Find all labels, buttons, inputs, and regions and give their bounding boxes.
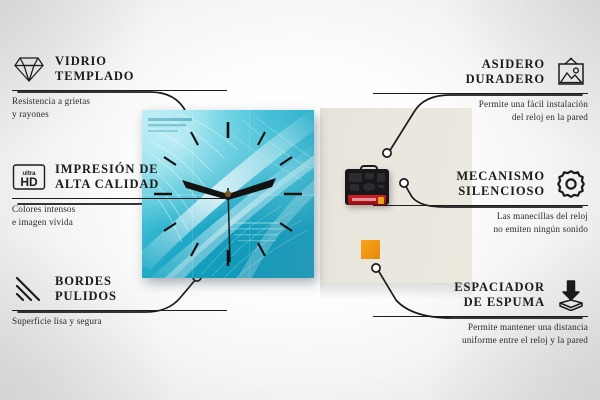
feature-divider	[373, 93, 588, 94]
feature-asidero-duradero: ASIDERO DURADERO Permite una fácil insta…	[373, 55, 588, 123]
feature-impresion-alta-calidad: ultra HD IMPRESIÓN DE ALTA CALIDAD Color…	[12, 160, 227, 228]
feature-description: Las manecillas del reloj no emiten ningú…	[373, 210, 588, 235]
feature-header: ultra HD IMPRESIÓN DE ALTA CALIDAD	[12, 160, 227, 194]
feature-espaciador-de-espuma: ESPACIADOR DE ESPUMA Permite mantener un…	[373, 278, 588, 346]
minute-hand	[228, 178, 276, 200]
feature-header: BORDES PULIDOS	[12, 272, 227, 306]
connector-dot-espaciador	[372, 264, 380, 272]
feature-header: VIDRIO TEMPLADO	[12, 52, 227, 86]
feature-divider	[12, 90, 227, 91]
svg-text:HD: HD	[20, 175, 38, 189]
feature-header: MECANISMO SILENCIOSO	[373, 167, 588, 201]
feature-description: Colores intensos e imagen vívida	[12, 203, 227, 228]
feature-bordes-pulidos: BORDES PULIDOS Superficie lisa y segura	[12, 272, 227, 328]
foam-spacer	[361, 240, 380, 259]
foam-spacer-icon	[554, 278, 588, 312]
feature-title: BORDES PULIDOS	[55, 274, 117, 305]
hanging-frame-icon	[554, 55, 588, 89]
feature-description: Resistencia a grietas y rayones	[12, 95, 227, 120]
connector-dot-asidero	[383, 149, 391, 157]
feature-header: ESPACIADOR DE ESPUMA	[373, 278, 588, 312]
polished-edges-icon	[12, 272, 46, 306]
feature-title: ESPACIADOR DE ESPUMA	[454, 280, 545, 311]
infographic-canvas: VIDRIO TEMPLADO Resistencia a grietas y …	[0, 0, 600, 400]
feature-divider	[373, 316, 588, 317]
feature-header: ASIDERO DURADERO	[373, 55, 588, 89]
gear-icon	[554, 167, 588, 201]
feature-title: IMPRESIÓN DE ALTA CALIDAD	[55, 162, 159, 193]
feature-mecanismo-silencioso: MECANISMO SILENCIOSO Las manecillas del …	[373, 167, 588, 235]
feature-divider	[373, 205, 588, 206]
feature-divider	[12, 310, 227, 311]
feature-vidrio-templado: VIDRIO TEMPLADO Resistencia a grietas y …	[12, 52, 227, 120]
feature-title: VIDRIO TEMPLADO	[55, 54, 134, 85]
feature-title: ASIDERO DURADERO	[466, 57, 545, 88]
feature-description: Superficie lisa y segura	[12, 315, 227, 327]
feature-description: Permite mantener una distancia uniforme …	[373, 321, 588, 346]
diamond-icon	[12, 52, 46, 86]
feature-description: Permite una fácil instalación del reloj …	[373, 98, 588, 123]
feature-title: MECANISMO SILENCIOSO	[456, 169, 545, 200]
ultra-hd-icon: ultra HD	[12, 160, 46, 194]
feature-divider	[12, 198, 227, 199]
